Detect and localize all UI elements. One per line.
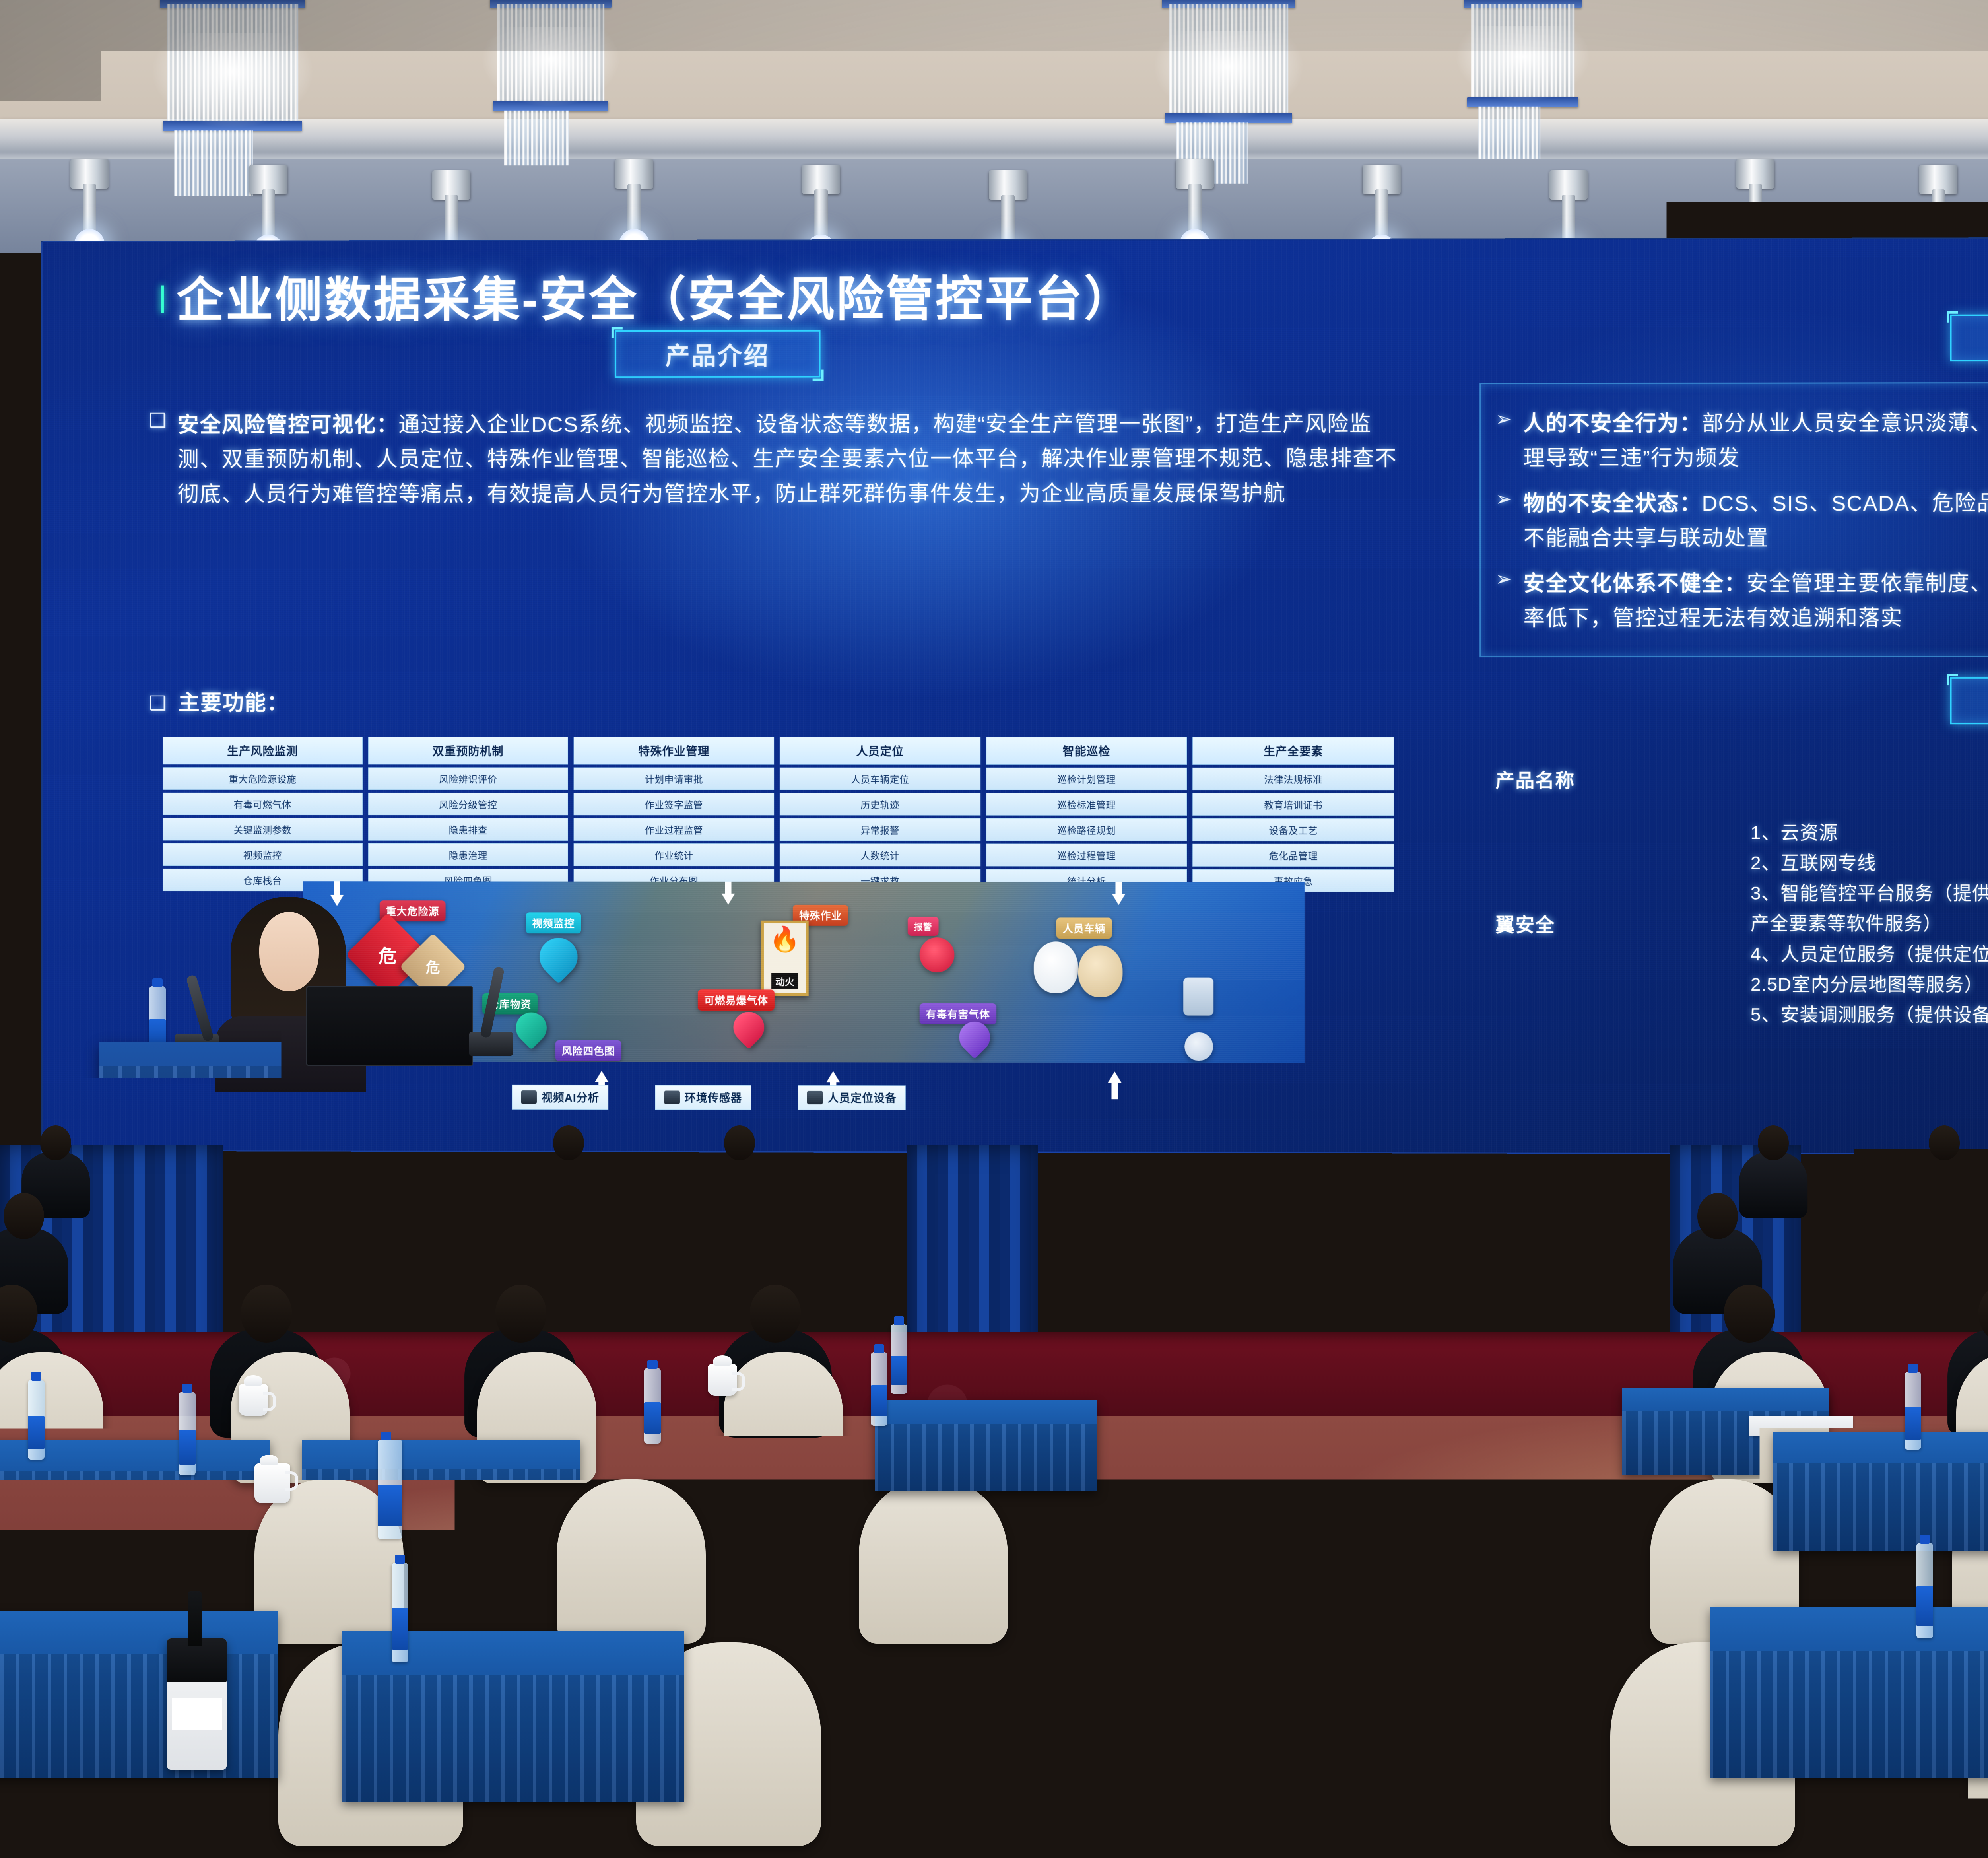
spotlight-arm — [1001, 195, 1015, 246]
teacup — [151, 1535, 181, 1567]
function-column: 人员定位人员车辆定位历史轨迹异常报警人数统计一键求救 — [780, 737, 980, 892]
audience-person-head — [624, 1193, 664, 1239]
function-cell: 风险分级管控 — [368, 793, 568, 815]
device-icon — [521, 1090, 537, 1104]
diagram-tag-toxic-gas: 有毒有害气体 — [920, 1003, 996, 1024]
audience-person-head — [382, 1125, 413, 1160]
product-content-header: 产品内容 — [1751, 765, 1988, 803]
audience-person-head — [1724, 1285, 1775, 1343]
spotlight-arm — [627, 184, 641, 235]
camera-pin-icon — [532, 930, 585, 983]
audience-person-head — [495, 1285, 547, 1343]
water-bottle — [871, 1352, 887, 1426]
flame-icon: 🔥 — [769, 927, 800, 952]
warehouse-pin-icon — [509, 1006, 553, 1049]
alarm-circle-icon — [920, 937, 955, 972]
thermos-flask — [167, 1638, 227, 1770]
scene-analysis-item: ➢物的不安全状态：DCS、SIS、SCADA、危险品仓储、可燃气体监测系统、消防… — [1495, 486, 1988, 556]
diagram-tag-risk-color-map: 风险四色图 — [555, 1040, 621, 1061]
audience-table — [0, 1611, 278, 1778]
hazard-diamond-label: 危 — [379, 942, 397, 968]
teacup — [708, 1364, 737, 1396]
section-header-product-form: 产品形态 — [1950, 677, 1988, 724]
spotlight-arm — [1932, 189, 1945, 240]
worker-avatar-icon-2 — [1078, 945, 1123, 997]
product-intro-text: 安全风险管控可视化：通过接入企业DCS系统、视频监控、设备状态等数据，构建“安全… — [178, 407, 1408, 512]
function-cell: 人数统计 — [780, 843, 980, 866]
device-source-chip: 人员定位设备 — [798, 1085, 906, 1110]
function-column: 生产全要素法律法规标准教育培训证书设备及工艺危化品管理事故应急 — [1193, 737, 1394, 892]
conference-room-photo: 企业侧数据采集-安全（安全风险管控平台） 产品介绍 场景分析 产品形态 ❑ 安全… — [0, 0, 1988, 1858]
function-cell: 作业过程监管 — [574, 818, 774, 841]
audience-person-body — [1739, 1152, 1807, 1218]
water-bottle — [1905, 1372, 1921, 1450]
title-accent-tick — [161, 286, 164, 313]
diagram-tag-video: 视频监控 — [526, 912, 581, 933]
chandelier-rods-lower — [504, 111, 569, 165]
function-column-header: 双重预防机制 — [368, 737, 568, 765]
chandelier-glow — [151, 33, 314, 129]
audience-person-body — [393, 1228, 482, 1314]
scene-analysis-title: 物的不安全状态： — [1523, 492, 1702, 515]
device-circle-icon — [1184, 1032, 1213, 1061]
audience-person-body — [1880, 1228, 1969, 1314]
function-cell: 视频监控 — [163, 843, 363, 866]
function-cell: 历史轨迹 — [780, 793, 980, 815]
function-cell: 巡检标准管理 — [986, 793, 1187, 816]
audience-person-head — [1929, 1125, 1960, 1160]
function-cell: 作业签字监管 — [574, 793, 774, 815]
chandelier-glow — [1153, 31, 1304, 120]
bullet-marker-icon-2: ❑ — [149, 691, 166, 716]
teacup-foreground — [429, 1507, 473, 1555]
function-cell: 设备及工艺 — [1193, 818, 1394, 841]
document-paper — [1749, 1416, 1853, 1436]
scene-analysis-text: 安全文化体系不健全：安全管理主要依靠制度、检查等手段，缺少培训工具，缺乏培训专业… — [1523, 566, 1988, 636]
audience-person-head — [831, 1193, 871, 1239]
audience-chair — [724, 1352, 843, 1483]
device-source-chip: 环境传感器 — [655, 1085, 751, 1110]
worker-avatar-icon — [1034, 941, 1078, 993]
main-functions-label: ❑ 主要功能： — [149, 686, 289, 721]
device-box-icon — [1183, 978, 1213, 1016]
device-source-chip: 视频AI分析 — [512, 1085, 609, 1110]
water-bottle — [28, 1380, 45, 1460]
scene-analysis-item: ➢人的不安全行为：部分从业人员安全意识淡薄、安全技能缺乏，无知、侥幸、图省事、逞… — [1495, 406, 1988, 476]
product-intro-bullet: ❑ 安全风险管控可视化：通过接入企业DCS系统、视频监控、设备状态等数据，构建“… — [149, 407, 1408, 512]
spotlight-arm — [445, 195, 458, 246]
function-cell: 计划申请审批 — [574, 767, 774, 790]
arrow-bullet-icon: ➢ — [1495, 567, 1512, 592]
audience-person-head — [724, 1125, 755, 1160]
mic-base-right — [469, 1032, 513, 1056]
gas-pin-icon — [727, 1005, 771, 1049]
section-header-product-intro: 产品介绍 — [615, 330, 821, 378]
function-cell: 巡检路径规划 — [986, 818, 1187, 841]
device-label: 视频AI分析 — [542, 1089, 599, 1105]
water-bottle — [644, 1368, 661, 1444]
audience-person-head — [1904, 1193, 1945, 1239]
audience-person-head — [241, 1285, 292, 1343]
section-header-scene-analysis: 场景分析 — [1950, 314, 1988, 361]
product-form-table: 产品名称 产品内容 翼安全 1、云资源2、互联网专线3、智能管控平台服务（提供生… — [1495, 765, 1988, 1031]
down-arrow-icon — [1112, 881, 1125, 906]
scene-analysis-list: ➢人的不安全行为：部分从业人员安全意识淡薄、安全技能缺乏，无知、侥幸、图省事、逞… — [1495, 406, 1988, 647]
thermos-label — [172, 1698, 222, 1730]
function-cell: 异常报警 — [780, 818, 980, 841]
water-bottle — [392, 1563, 408, 1662]
device-icon — [664, 1090, 680, 1104]
spotlight-arm — [1749, 184, 1762, 235]
function-cell: 重大危险源设施 — [163, 767, 363, 790]
device-source-bar: 视频AI分析环境传感器人员定位设备 — [512, 1085, 906, 1110]
audience-chair — [859, 1479, 1008, 1644]
product-name-value: 翼安全 — [1495, 910, 1555, 937]
function-cell: 隐患排查 — [368, 818, 568, 841]
audience-person-head — [4, 1193, 44, 1239]
device-icon — [807, 1091, 823, 1104]
product-content-item: 2、互联网专线 — [1751, 848, 1988, 879]
diagram-tag-special-work: 特殊作业 — [793, 905, 848, 926]
function-column-header: 人员定位 — [780, 737, 980, 765]
product-content-item: 4、人员定位服务（提供定位信标、定位标签、定位基站、定位引擎、人员定位系统、聚集… — [1751, 939, 1988, 1000]
audience-person-head — [210, 1193, 251, 1239]
audience-person-head — [1697, 1193, 1738, 1239]
teacup — [239, 1384, 268, 1416]
spotlight-arm — [814, 189, 828, 240]
slide-title: 企业侧数据采集-安全（安全风险管控平台） — [177, 260, 1134, 330]
arrow-bullet-icon: ➢ — [1495, 487, 1512, 512]
document-paper — [1813, 1551, 1932, 1575]
diagram-tag-flammable-gas: 可燃易爆气体 — [698, 989, 775, 1011]
spotlight-arm — [262, 189, 275, 240]
function-cell: 巡检过程管理 — [986, 844, 1187, 867]
diagram-tag-alarm: 报警 — [908, 917, 939, 936]
function-column-header: 生产全要素 — [1193, 737, 1394, 765]
main-functions-text: 主要功能： — [179, 686, 289, 721]
up-arrow-icon — [1108, 1071, 1122, 1099]
chandelier-glow — [481, 27, 620, 107]
spotlight-arm — [1375, 189, 1388, 240]
function-cell: 教育培训证书 — [1193, 793, 1394, 816]
presenter-face — [259, 912, 319, 991]
water-bottle — [179, 1392, 196, 1475]
device-label: 环境传感器 — [685, 1090, 742, 1106]
diagram-tag-personnel-vehicle: 人员车辆 — [1056, 917, 1112, 939]
arrow-bullet-icon: ➢ — [1495, 407, 1512, 432]
water-bottle — [891, 1324, 907, 1394]
bullet-marker-icon: ❑ — [149, 408, 166, 433]
product-content-list: 1、云资源2、互联网专线3、智能管控平台服务（提供生产风险监测、双重预防机制、特… — [1751, 817, 1988, 1030]
thermos-handle — [188, 1591, 202, 1646]
audience-person-head — [417, 1193, 458, 1239]
hot-work-caption: 动火 — [771, 973, 798, 989]
audience-person-head — [40, 1125, 71, 1160]
function-column-header: 智能巡检 — [986, 737, 1187, 765]
water-bottle-foreground — [378, 1440, 402, 1539]
function-cell: 法律法规标准 — [1193, 768, 1394, 790]
function-column: 智能巡检巡检计划管理巡检标准管理巡检路径规划巡检过程管理统计分析 — [986, 737, 1187, 892]
function-column: 生产风险监测重大危险源设施有毒可燃气体关键监测参数视频监控仓库栈台 — [163, 737, 363, 892]
scene-analysis-text: 人的不安全行为：部分从业人员安全意识淡薄、安全技能缺乏，无知、侥幸、图省事、逞强… — [1523, 406, 1988, 476]
scene-analysis-title: 安全文化体系不健全： — [1523, 571, 1746, 595]
audience-person-body — [534, 1152, 603, 1218]
chandelier-rods-lower — [1478, 107, 1540, 159]
scene-analysis-text: 物的不安全状态：DCS、SIS、SCADA、危险品仓储、可燃气体监测系统、消防系… — [1523, 486, 1988, 556]
chandelier-glow — [1455, 26, 1590, 103]
product-name-header: 产品名称 — [1495, 765, 1750, 803]
toxic-pin-icon — [953, 1015, 996, 1059]
function-cell: 危化品管理 — [1193, 844, 1394, 867]
product-content-item: 5、安装调测服务（提供设备安装及调测、平台对接数据调试） — [1751, 999, 1988, 1031]
spotlight-arm — [1188, 184, 1202, 235]
audience-person-body — [806, 1228, 895, 1314]
function-column: 双重预防机制风险辨识评价风险分级管控隐患排查隐患治理风险四色图 — [368, 737, 568, 892]
function-column-header: 生产风险监测 — [163, 737, 363, 765]
function-column: 特殊作业管理计划申请审批作业签字监管作业过程监管作业统计作业分布图 — [574, 737, 774, 892]
hot-work-sign-icon: 🔥 动火 — [761, 921, 808, 996]
down-arrow-icon — [722, 881, 735, 906]
function-cell: 人员车辆定位 — [780, 768, 980, 790]
hazard-diamond-icon: 危 — [346, 913, 429, 997]
diagram-tag-major-hazard: 重大危险源 — [380, 900, 446, 921]
audience-person-head — [750, 1285, 801, 1343]
main-functions-table: 生产风险监测重大危险源设施有毒可燃气体关键监测参数视频监控仓库栈台双重预防机制风… — [163, 737, 1394, 892]
product-intro-title: 安全风险管控可视化： — [178, 413, 399, 437]
audience-person-body — [600, 1228, 689, 1314]
scene-analysis-item: ➢安全文化体系不健全：安全管理主要依靠制度、检查等手段，缺少培训工具，缺乏培训专… — [1495, 566, 1988, 636]
function-cell: 隐患治理 — [368, 843, 568, 866]
device-label: 人员定位设备 — [828, 1090, 897, 1106]
function-cell: 风险辨识评价 — [368, 767, 568, 790]
audience-person-head — [211, 1125, 242, 1160]
function-cell: 巡检计划管理 — [986, 768, 1187, 790]
audience-person-body — [705, 1152, 774, 1218]
teacup-foreground-2 — [254, 1463, 290, 1503]
audience-table — [875, 1400, 1097, 1491]
product-content-item: 1、云资源 — [1751, 817, 1988, 848]
function-cell: 作业统计 — [574, 843, 774, 866]
function-cell: 有毒可燃气体 — [163, 793, 363, 815]
audience-person-head — [553, 1125, 584, 1160]
function-cell: 关键监测参数 — [163, 818, 363, 841]
function-column-header: 特殊作业管理 — [574, 737, 774, 765]
hazard-diamond-label-2: 危 — [426, 956, 440, 977]
product-content-item: 3、智能管控平台服务（提供生产风险监测、双重预防机制、特殊作业管理、人员定位、智… — [1751, 878, 1988, 939]
audience-table — [1710, 1607, 1988, 1778]
scene-analysis-title: 人的不安全行为： — [1523, 412, 1702, 436]
audience-person-head — [1758, 1125, 1789, 1160]
spotlight-arm — [83, 184, 96, 235]
